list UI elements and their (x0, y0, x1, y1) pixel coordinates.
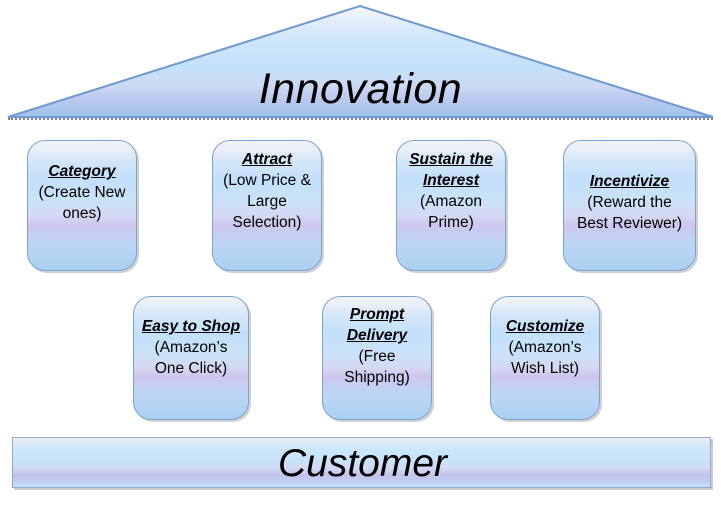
pillar-prompt-delivery[interactable]: Prompt Delivery (Free Shipping) (322, 296, 432, 420)
pillar-title: Category (34, 161, 130, 182)
roof-shadow-line (8, 118, 713, 120)
pillar-sustain-the-interest[interactable]: Sustain the Interest (Amazon Prime) (396, 140, 506, 271)
pillar-title: Prompt Delivery (329, 304, 425, 346)
base-bar: Customer (12, 437, 711, 488)
pillar-title: Customize (497, 316, 593, 337)
base-label: Customer (13, 441, 712, 486)
pillar-attract[interactable]: Attract (Low Price & Large Selection) (212, 140, 322, 271)
pillar-body: (Amazon Prime) (403, 191, 499, 233)
pillar-incentivize[interactable]: Incentivize (Reward the Best Reviewer) (563, 140, 696, 271)
pillar-body: (Free Shipping) (329, 346, 425, 388)
pillar-body: (Amazon’s One Click) (140, 337, 242, 379)
diagram-canvas: Innovation Category (Create New ones) At… (0, 0, 721, 508)
pillar-title: Incentivize (570, 171, 689, 192)
pillar-title: Easy to Shop (140, 316, 242, 337)
pillar-easy-to-shop[interactable]: Easy to Shop (Amazon’s One Click) (133, 296, 249, 420)
pillar-body: (Reward the Best Reviewer) (570, 192, 689, 234)
pillar-customize[interactable]: Customize (Amazon’s Wish List) (490, 296, 600, 420)
pillar-title: Sustain the Interest (403, 149, 499, 191)
pillar-body: (Low Price & Large Selection) (219, 170, 315, 233)
pillar-title: Attract (219, 149, 315, 170)
roof-pediment: Innovation (6, 4, 715, 120)
pillar-body: (Create New ones) (34, 182, 130, 224)
roof-label: Innovation (6, 64, 715, 114)
pillar-body: (Amazon’s Wish List) (497, 337, 593, 379)
pillar-category[interactable]: Category (Create New ones) (27, 140, 137, 271)
